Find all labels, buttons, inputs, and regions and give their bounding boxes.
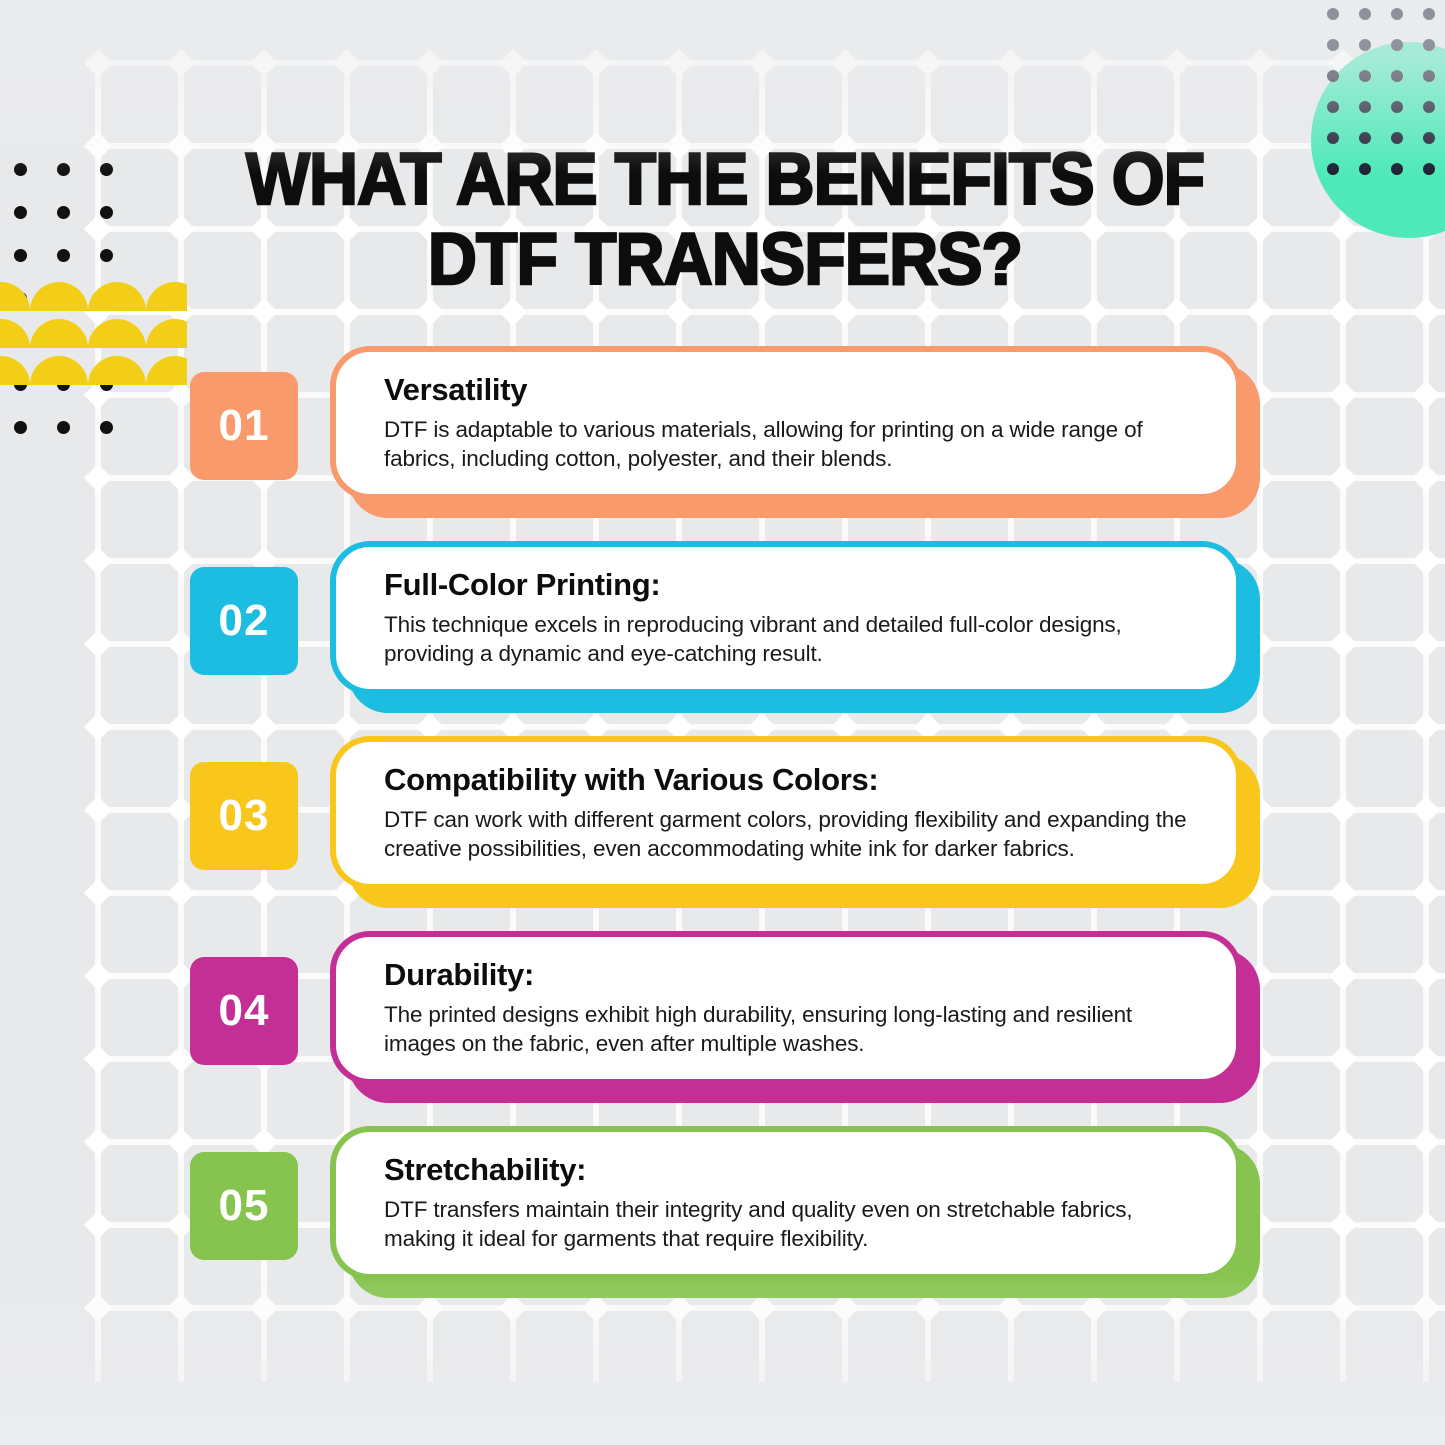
benefit-card-body: Full-Color Printing:This technique excel… [330,541,1242,695]
benefit-card: VersatilityDTF is adaptable to various m… [330,346,1260,518]
benefit-card-title: Compatibility with Various Colors: [384,762,1206,798]
benefit-card-description: The printed designs exhibit high durabil… [384,1000,1206,1058]
benefit-card-title: Versatility [384,372,1206,408]
benefit-card-body: Compatibility with Various Colors:DTF ca… [330,736,1242,890]
benefit-row: 04Durability:The printed designs exhibit… [0,931,1445,1126]
benefit-number-badge: 02 [190,567,298,675]
benefit-card-description: DTF is adaptable to various materials, a… [384,415,1206,473]
benefit-card: Durability:The printed designs exhibit h… [330,931,1260,1103]
benefit-card: Stretchability:DTF transfers maintain th… [330,1126,1260,1298]
benefit-card-description: DTF transfers maintain their integrity a… [384,1195,1206,1253]
benefit-card: Compatibility with Various Colors:DTF ca… [330,736,1260,908]
benefit-number-badge: 05 [190,1152,298,1260]
benefit-card-body: Durability:The printed designs exhibit h… [330,931,1242,1085]
benefit-number-badge: 04 [190,957,298,1065]
benefit-card-title: Full-Color Printing: [384,567,1206,603]
benefit-card-description: This technique excels in reproducing vib… [384,610,1206,668]
page-title: WHAT ARE THE BENEFITS OF DTF TRANSFERS? [200,140,1251,300]
benefit-row: 05Stretchability:DTF transfers maintain … [0,1126,1445,1321]
benefit-row: 01VersatilityDTF is adaptable to various… [0,346,1445,541]
benefit-row: 02Full-Color Printing:This technique exc… [0,541,1445,736]
benefit-card-body: Stretchability:DTF transfers maintain th… [330,1126,1242,1280]
benefit-card-body: VersatilityDTF is adaptable to various m… [330,346,1242,500]
benefit-card-description: DTF can work with different garment colo… [384,805,1206,863]
benefit-card-title: Durability: [384,957,1206,993]
benefit-number-badge: 01 [190,372,298,480]
benefits-list: 01VersatilityDTF is adaptable to various… [0,346,1445,1321]
benefit-card-title: Stretchability: [384,1152,1206,1188]
benefit-number-badge: 03 [190,762,298,870]
benefit-card: Full-Color Printing:This technique excel… [330,541,1260,713]
benefit-row: 03Compatibility with Various Colors:DTF … [0,736,1445,931]
